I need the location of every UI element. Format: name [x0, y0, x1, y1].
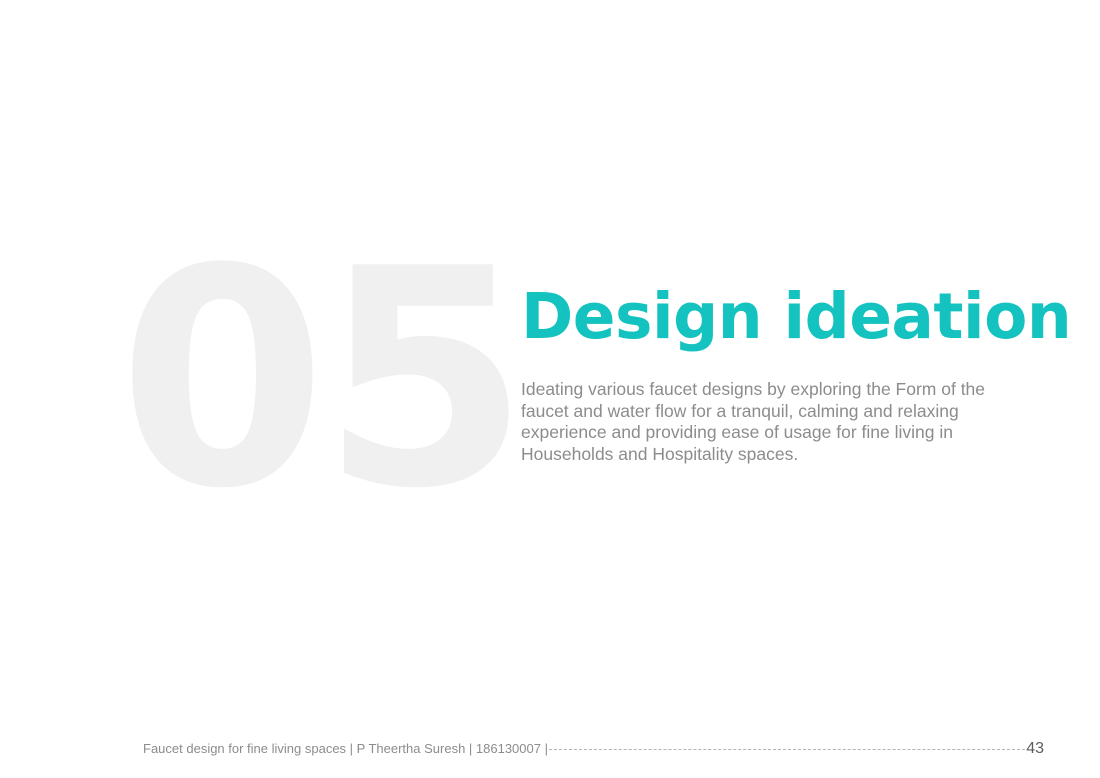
- section-description: Ideating various faucet designs by explo…: [521, 353, 1006, 465]
- section-content-block: Design ideation Ideating various faucet …: [521, 281, 1021, 465]
- footer-dashed-rule: [549, 749, 1025, 750]
- page-number: 43: [1026, 740, 1044, 758]
- section-number-watermark: 05: [118, 230, 523, 530]
- footer-credit-line: Faucet design for fine living spaces | P…: [143, 740, 548, 758]
- page-title: Design ideation: [521, 281, 1021, 353]
- slide-page: 05 Design ideation Ideating various fauc…: [0, 0, 1100, 778]
- footer: Faucet design for fine living spaces | P…: [143, 738, 1044, 760]
